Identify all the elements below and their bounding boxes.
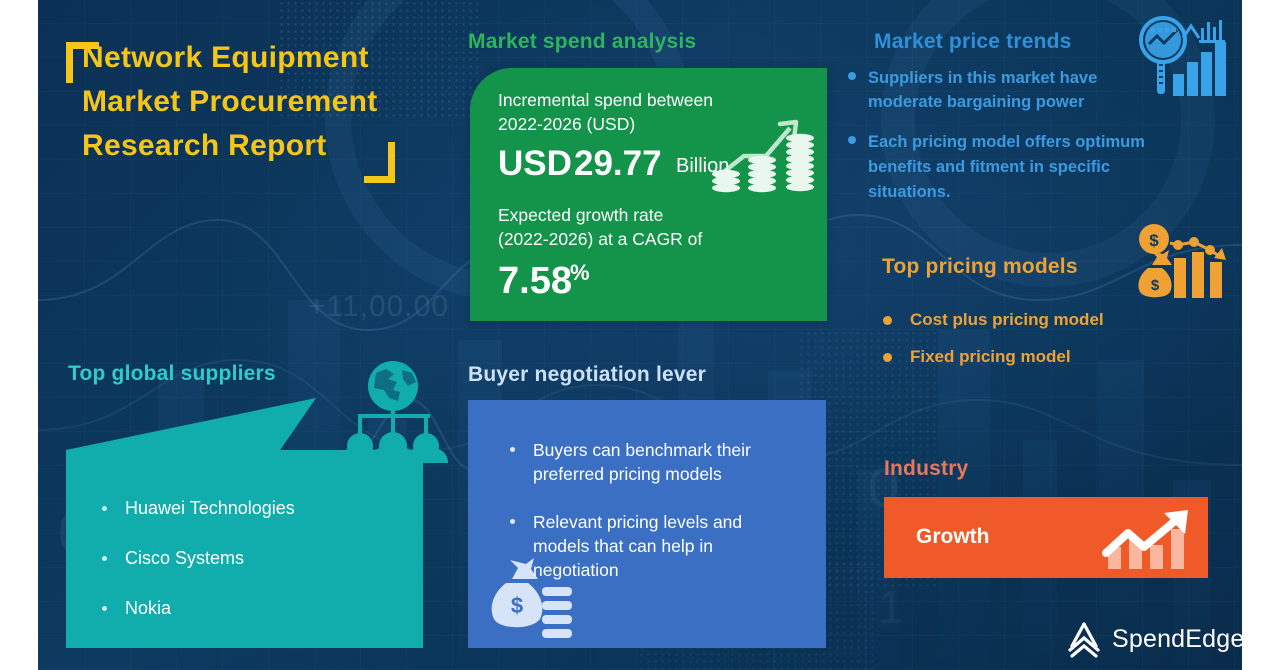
bullet-dot-icon: [102, 506, 107, 511]
price-trend-bullet-text: Each pricing model offers optimum benefi…: [868, 130, 1163, 205]
spend-amount-unit: Billion: [676, 154, 729, 178]
title-line-2: Market Procurement: [82, 80, 466, 124]
report-title: Network Equipment Market Procurement Res…: [66, 36, 466, 168]
bullet-dot-icon: [883, 316, 892, 325]
negotiation-bullet-text: Buyers can benchmark their preferred pri…: [533, 438, 810, 486]
industry-status-bar: Growth: [884, 497, 1208, 578]
pricing-model-label: Cost plus pricing model: [910, 310, 1104, 330]
trademark-symbol: ™: [1246, 634, 1255, 644]
supplier-name: Nokia: [125, 598, 171, 619]
background-digit: 1: [878, 580, 905, 634]
pricing-model-label: Fixed pricing model: [910, 347, 1071, 367]
growth-rate-label-line2: (2022-2026) at a CAGR of: [498, 227, 702, 251]
industry-heading: Industry: [884, 457, 968, 481]
market-spend-heading: Market spend analysis: [468, 30, 696, 54]
negotiation-bullet-text: Relevant pricing levels and models that …: [533, 510, 800, 582]
price-trend-bullet-text: Suppliers in this market have moderate b…: [868, 66, 1158, 114]
supplier-name: Cisco Systems: [125, 548, 244, 569]
background-ticker-text: +11,00.00: [308, 290, 449, 324]
money-bag-declining-chart-icon: $ $: [1134, 222, 1234, 302]
supplier-name: Huawei Technologies: [125, 498, 295, 519]
title-bracket-top-left: [66, 42, 99, 83]
bullet-dot-icon: [510, 447, 515, 452]
upward-trend-arrow-icon: [1102, 507, 1200, 571]
supplier-list-item: Cisco Systems: [102, 548, 244, 569]
pricing-model-item: Cost plus pricing model: [883, 310, 1104, 330]
buyer-negotiation-panel: $ Buyers can benchmark their preferred p…: [468, 400, 826, 648]
spend-amount-currency: USD: [498, 144, 572, 184]
growth-rate-label-line1: Expected growth rate: [498, 203, 663, 227]
price-trend-bullet: Suppliers in this market have moderate b…: [848, 66, 1158, 114]
bullet-dot-icon: [510, 519, 515, 524]
svg-text:$: $: [1149, 231, 1159, 250]
svg-text:$: $: [511, 593, 523, 618]
cagr-value: 7.58: [498, 260, 572, 303]
cagr-unit: %: [570, 260, 590, 286]
negotiation-bullet: Buyers can benchmark their preferred pri…: [510, 438, 810, 486]
suppliers-list-box: Huawei Technologies Cisco Systems Nokia: [66, 450, 423, 648]
buyer-negotiation-lever-heading: Buyer negotiation lever: [468, 363, 706, 387]
svg-text:$: $: [1151, 277, 1160, 294]
coin-stacks-growth-icon: [710, 98, 820, 194]
top-global-suppliers-heading: Top global suppliers: [68, 362, 276, 386]
title-line-3: Research Report: [82, 124, 466, 168]
spendedge-logo: SpendEdge ™: [1064, 620, 1255, 658]
incremental-spend-label-line1: Incremental spend between: [498, 88, 713, 112]
market-spend-panel: Incremental spend between 2022-2026 (USD…: [470, 68, 827, 321]
infographic-root: +11,00.00 0 0 1 Network Equipment Market…: [0, 0, 1279, 670]
supplier-list-item: Nokia: [102, 598, 171, 619]
speech-bubble-tail: [66, 398, 423, 458]
market-price-trends-heading: Market price trends: [874, 30, 1072, 54]
price-trend-bullet: Each pricing model offers optimum benefi…: [848, 130, 1163, 205]
top-global-suppliers-panel: Huawei Technologies Cisco Systems Nokia: [66, 398, 431, 648]
bullet-dot-icon: [848, 136, 856, 144]
supplier-list-item: Huawei Technologies: [102, 498, 295, 519]
bullet-dot-icon: [102, 556, 107, 561]
bullet-dot-icon: [883, 353, 892, 362]
spend-amount-value: 29.77: [574, 144, 662, 184]
title-bracket-bottom-right: [364, 142, 395, 183]
incremental-spend-label-line2: 2022-2026 (USD): [498, 112, 635, 136]
title-line-1: Network Equipment: [82, 36, 466, 80]
spendedge-chevron-logo-icon: [1064, 620, 1104, 658]
bullet-dot-icon: [848, 72, 856, 80]
negotiation-bullet: Relevant pricing levels and models that …: [510, 510, 800, 582]
bullet-dot-icon: [102, 606, 107, 611]
industry-status-label: Growth: [916, 525, 990, 549]
top-pricing-models-heading: Top pricing models: [882, 255, 1078, 279]
spendedge-wordmark: SpendEdge: [1112, 625, 1244, 654]
pricing-model-item: Fixed pricing model: [883, 347, 1071, 367]
